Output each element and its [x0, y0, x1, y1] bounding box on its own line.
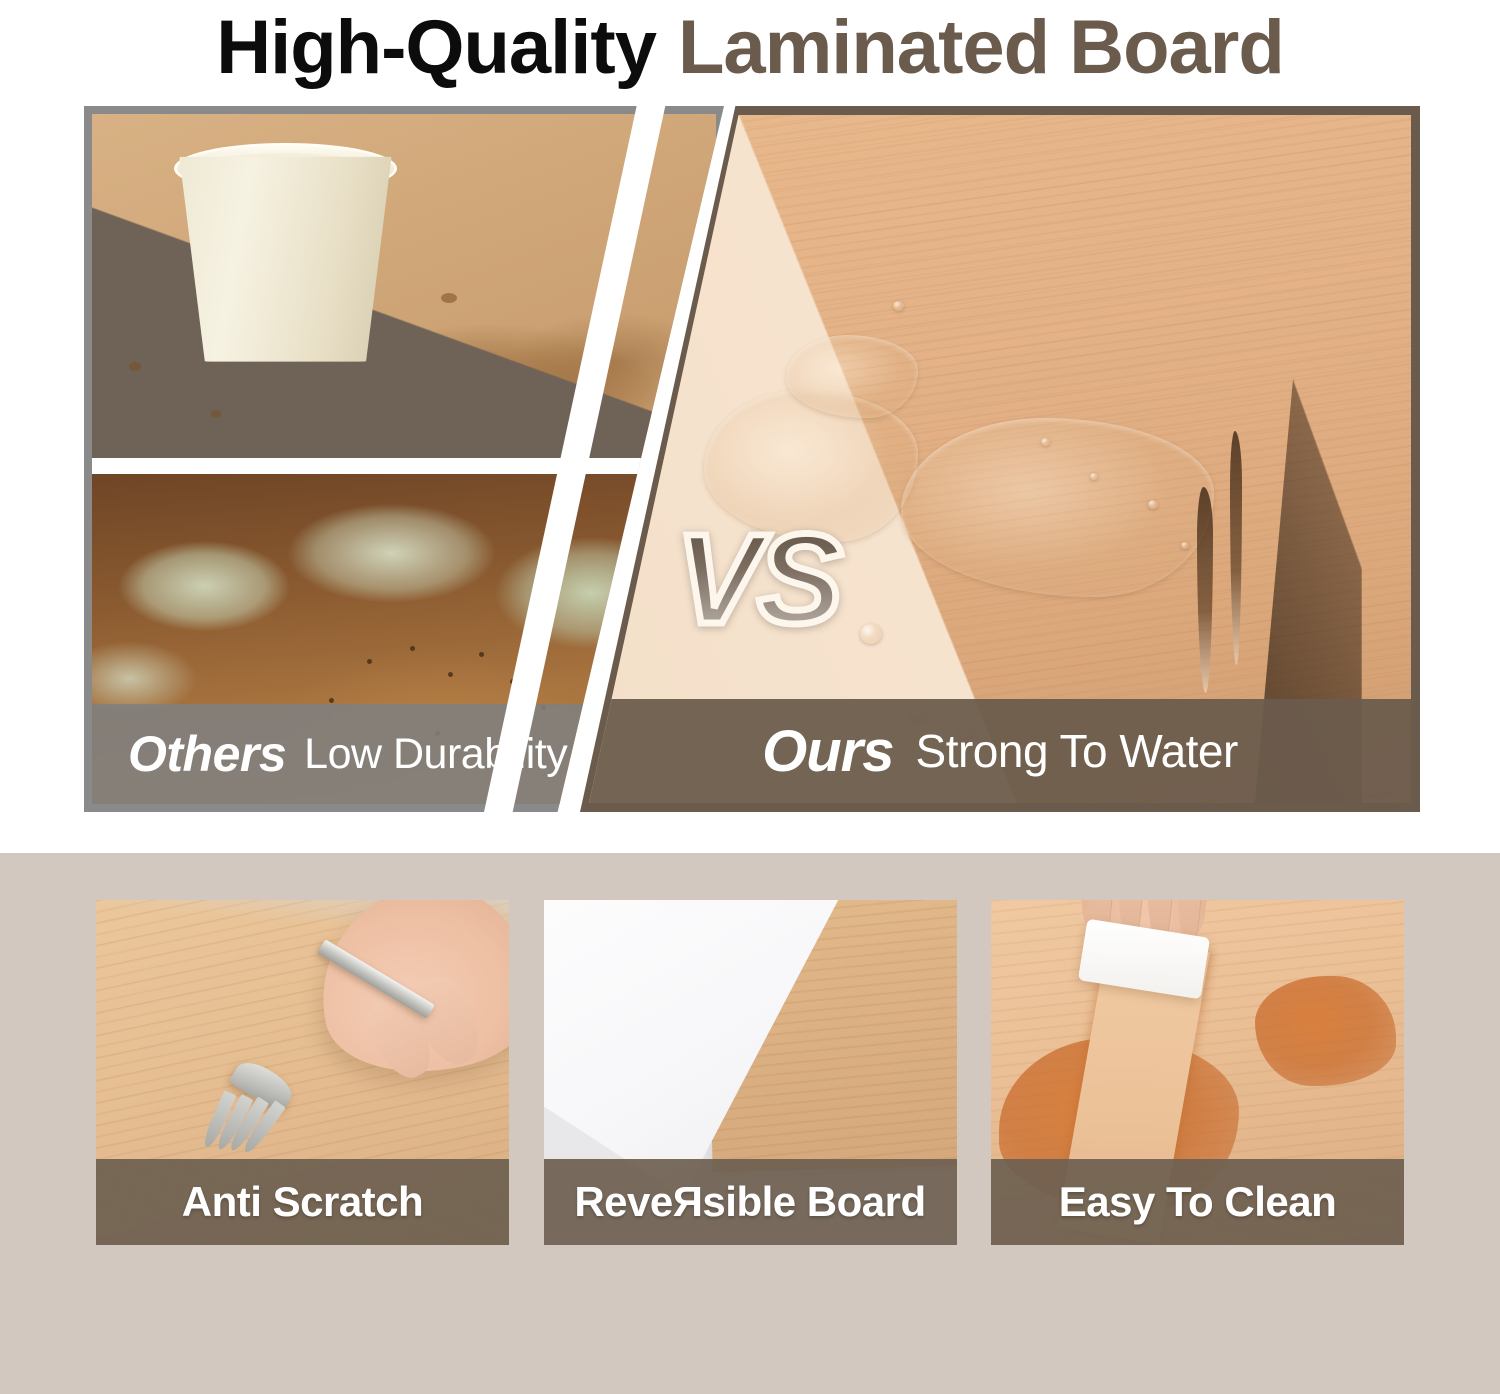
mold-speck — [448, 672, 453, 677]
ours-label: Ours — [762, 718, 893, 785]
ours-tagline: Strong To Water — [916, 724, 1238, 778]
ours-panel-inner: Ours Strong To Water — [589, 115, 1411, 803]
feature-caption-bar: ReveЯsible Board — [544, 1159, 957, 1245]
feature-label: Anti Scratch — [182, 1178, 423, 1226]
features-section: Anti Scratch ReveЯsible Board — [0, 853, 1500, 1394]
spill-droplet — [211, 410, 221, 418]
title-part-primary: High-Quality — [216, 10, 656, 86]
mold-speck — [479, 652, 484, 657]
water-bead — [1181, 542, 1189, 549]
feature-card-row: Anti Scratch ReveЯsible Board — [96, 900, 1404, 1245]
feature-label: Easy To Clean — [1059, 1178, 1337, 1226]
spill-droplet — [129, 362, 141, 371]
ours-caption-bar: Ours Strong To Water — [589, 699, 1411, 803]
water-drip — [1230, 431, 1242, 665]
ours-panel: Ours Strong To Water — [580, 106, 1420, 812]
water-drip — [1197, 487, 1213, 693]
paper-cup — [179, 148, 391, 361]
water-bead — [893, 301, 904, 311]
feature-card-reversible-board[interactable]: ReveЯsible Board — [544, 900, 957, 1245]
mold-speck — [410, 646, 415, 651]
page-title: High-Quality Laminated Board — [0, 0, 1500, 96]
infographic-page: High-Quality Laminated Board — [0, 0, 1500, 1394]
water-puddle — [901, 418, 1213, 597]
feature-label: ReveЯsible Board — [574, 1178, 925, 1226]
vs-badge: VS — [676, 516, 839, 644]
feature-caption-bar: Anti Scratch — [96, 1159, 509, 1245]
comparison-block: Others Low Durability — [84, 106, 1420, 812]
title-part-secondary: Laminated Board — [678, 10, 1284, 86]
others-label: Others — [128, 725, 286, 783]
sauce-stain — [1255, 976, 1395, 1086]
feature-card-easy-to-clean[interactable]: Easy To Clean — [991, 900, 1404, 1245]
mold-speck — [329, 698, 334, 703]
feature-card-anti-scratch[interactable]: Anti Scratch — [96, 900, 509, 1245]
water-bead — [860, 624, 882, 644]
feature-caption-bar: Easy To Clean — [991, 1159, 1404, 1245]
spill-droplet — [441, 293, 457, 303]
mold-speck — [367, 659, 372, 664]
